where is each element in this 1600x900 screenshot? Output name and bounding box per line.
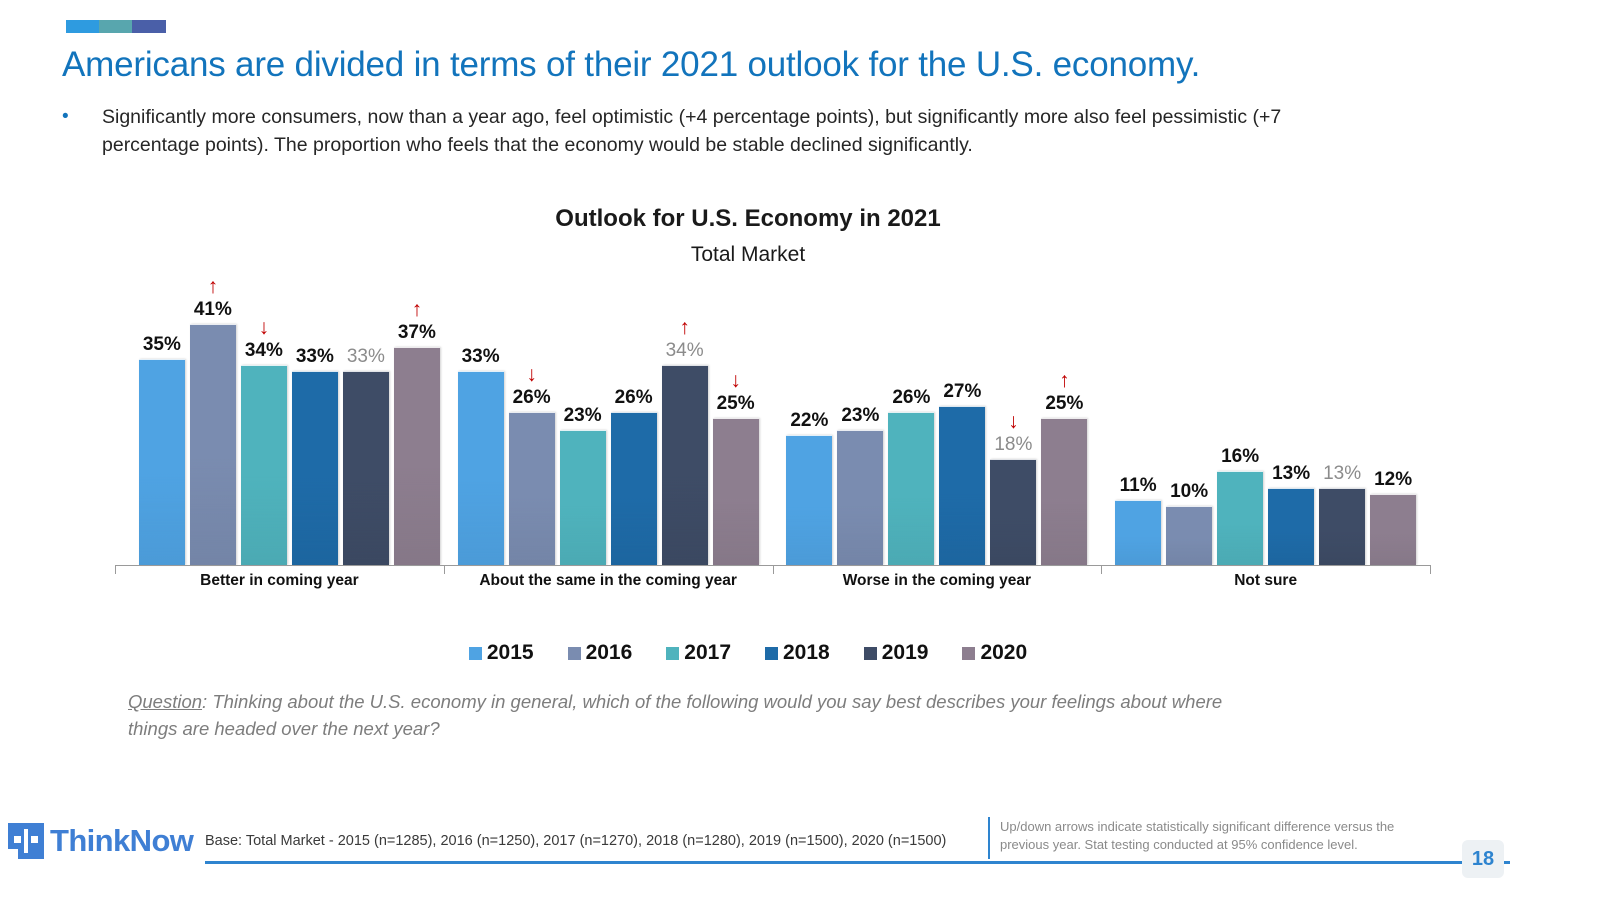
significance-down-arrow-icon: ↓: [1008, 413, 1019, 430]
bar-value-label: 35%: [143, 334, 181, 356]
bar-value-label: 22%: [790, 410, 828, 432]
bar-value-label: 41%: [194, 299, 232, 321]
bar-value-label: 16%: [1221, 446, 1259, 468]
bar-value-label: 33%: [462, 346, 500, 368]
bar-2016-0[interactable]: [190, 324, 236, 565]
bar-2015-1[interactable]: [458, 371, 504, 565]
bar-value-label: 26%: [892, 387, 930, 409]
bar-2019-3[interactable]: [1319, 488, 1365, 565]
legend-swatch-icon: [469, 647, 482, 660]
bar-2015-0[interactable]: [139, 359, 185, 565]
bar-value-label: 13%: [1323, 463, 1361, 485]
bar-2020-3[interactable]: [1370, 494, 1416, 565]
accent-segment-1: [66, 20, 99, 33]
significance-up-arrow-icon: ↑: [208, 278, 219, 295]
legend-item-2018[interactable]: 2018: [765, 641, 830, 665]
legend-item-2016[interactable]: 2016: [568, 641, 633, 665]
bar-2019-2[interactable]: [990, 459, 1036, 565]
category-label: About the same in the coming year: [444, 572, 773, 590]
question-label: Question: [128, 691, 202, 712]
legend-swatch-icon: [568, 647, 581, 660]
bar-value-label: 13%: [1272, 463, 1310, 485]
stat-testing-note: Up/down arrows indicate statistically si…: [1000, 818, 1420, 854]
base-note: Base: Total Market - 2015 (n=1285), 2016…: [205, 833, 946, 849]
bar-group: 33%26%↓23%26%34%↑25%↓: [458, 300, 759, 565]
bar-2017-2[interactable]: [888, 412, 934, 565]
bar-2016-1[interactable]: [509, 412, 555, 565]
bar-2018-0[interactable]: [292, 371, 338, 565]
bar-value-label: 12%: [1374, 469, 1412, 491]
legend-label: 2017: [684, 641, 731, 665]
legend-label: 2016: [586, 641, 633, 665]
bar-value-label: 25%: [717, 393, 755, 415]
bar-value-label: 34%: [245, 340, 283, 362]
bar-2020-2[interactable]: [1041, 418, 1087, 565]
footer-rule: [205, 861, 1510, 864]
axis-tick: [115, 565, 116, 574]
accent-segment-3: [132, 20, 166, 33]
significance-down-arrow-icon: ↓: [730, 372, 741, 389]
bar-2017-1[interactable]: [560, 430, 606, 565]
bullet-text: Significantly more consumers, now than a…: [102, 103, 1362, 159]
bullet-list: • Significantly more consumers, now than…: [62, 103, 1362, 159]
legend-item-2017[interactable]: 2017: [666, 641, 731, 665]
bar-2015-3[interactable]: [1115, 500, 1161, 565]
legend-item-2015[interactable]: 2015: [469, 641, 534, 665]
bar-group: 35%41%↑34%↓33%33%37%↑: [139, 300, 440, 565]
bar-2016-3[interactable]: [1166, 506, 1212, 565]
chart-title: Outlook for U.S. Economy in 2021: [0, 205, 1496, 233]
bullet-marker: •: [62, 103, 102, 159]
bar-2016-2[interactable]: [837, 430, 883, 565]
bar-value-label: 33%: [347, 346, 385, 368]
bar-value-label: 27%: [943, 381, 981, 403]
page-title: Americans are divided in terms of their …: [62, 45, 1562, 85]
thinknow-logo-icon: [8, 823, 44, 859]
page-number-badge: 18: [1462, 840, 1504, 878]
category-label: Better in coming year: [115, 572, 444, 590]
bar-value-label: 23%: [564, 405, 602, 427]
bar-2019-1[interactable]: [662, 365, 708, 565]
significance-up-arrow-icon: ↑: [1059, 372, 1070, 389]
legend-label: 2018: [783, 641, 830, 665]
axis-tick: [444, 565, 445, 574]
legend-item-2020[interactable]: 2020: [962, 641, 1027, 665]
bar-2017-3[interactable]: [1217, 471, 1263, 565]
accent-bar: [66, 20, 166, 33]
bar-value-label: 33%: [296, 346, 334, 368]
bar-2015-2[interactable]: [786, 435, 832, 565]
axis-tick: [1430, 565, 1431, 574]
bar-value-label: 10%: [1170, 481, 1208, 503]
significance-up-arrow-icon: ↑: [412, 301, 423, 318]
accent-segment-2: [99, 20, 132, 33]
legend-label: 2015: [487, 641, 534, 665]
bar-group: 11%10%16%13%13%12%: [1115, 300, 1416, 565]
category-label: Not sure: [1101, 572, 1430, 590]
bar-group: 22%23%26%27%18%↓25%↑: [786, 300, 1087, 565]
legend-item-2019[interactable]: 2019: [864, 641, 929, 665]
significance-down-arrow-icon: ↓: [526, 366, 537, 383]
significance-down-arrow-icon: ↓: [259, 319, 270, 336]
bar-2017-0[interactable]: [241, 365, 287, 565]
chart-legend: 201520162017201820192020: [0, 641, 1496, 665]
footer-note-divider: [988, 817, 990, 859]
thinknow-logo-text: ThinkNow: [50, 823, 193, 859]
bar-2018-3[interactable]: [1268, 488, 1314, 565]
bar-value-label: 34%: [666, 340, 704, 362]
bar-2020-1[interactable]: [713, 418, 759, 565]
category-label: Worse in the coming year: [773, 572, 1102, 590]
legend-swatch-icon: [765, 647, 778, 660]
bar-value-label: 26%: [615, 387, 653, 409]
legend-swatch-icon: [864, 647, 877, 660]
bar-chart-plot-area: 35%41%↑34%↓33%33%37%↑33%26%↓23%26%34%↑25…: [115, 300, 1430, 565]
legend-label: 2020: [980, 641, 1027, 665]
legend-label: 2019: [882, 641, 929, 665]
bar-value-label: 37%: [398, 322, 436, 344]
question-text: : Thinking about the U.S. economy in gen…: [128, 691, 1222, 739]
bar-2018-2[interactable]: [939, 406, 985, 565]
legend-swatch-icon: [666, 647, 679, 660]
bar-2019-0[interactable]: [343, 371, 389, 565]
legend-swatch-icon: [962, 647, 975, 660]
bar-value-label: 11%: [1120, 475, 1157, 497]
bar-value-label: 25%: [1045, 393, 1083, 415]
chart-subtitle: Total Market: [0, 243, 1496, 267]
axis-tick: [1101, 565, 1102, 574]
bar-value-label: 23%: [841, 405, 879, 427]
question-note: Question: Thinking about the U.S. econom…: [128, 688, 1248, 742]
thinknow-logo: ThinkNow: [8, 823, 193, 859]
bar-2018-1[interactable]: [611, 412, 657, 565]
bar-value-label: 26%: [513, 387, 551, 409]
significance-up-arrow-icon: ↑: [679, 319, 690, 336]
bar-2020-0[interactable]: [394, 347, 440, 565]
axis-tick: [773, 565, 774, 574]
bar-value-label: 18%: [994, 434, 1032, 456]
